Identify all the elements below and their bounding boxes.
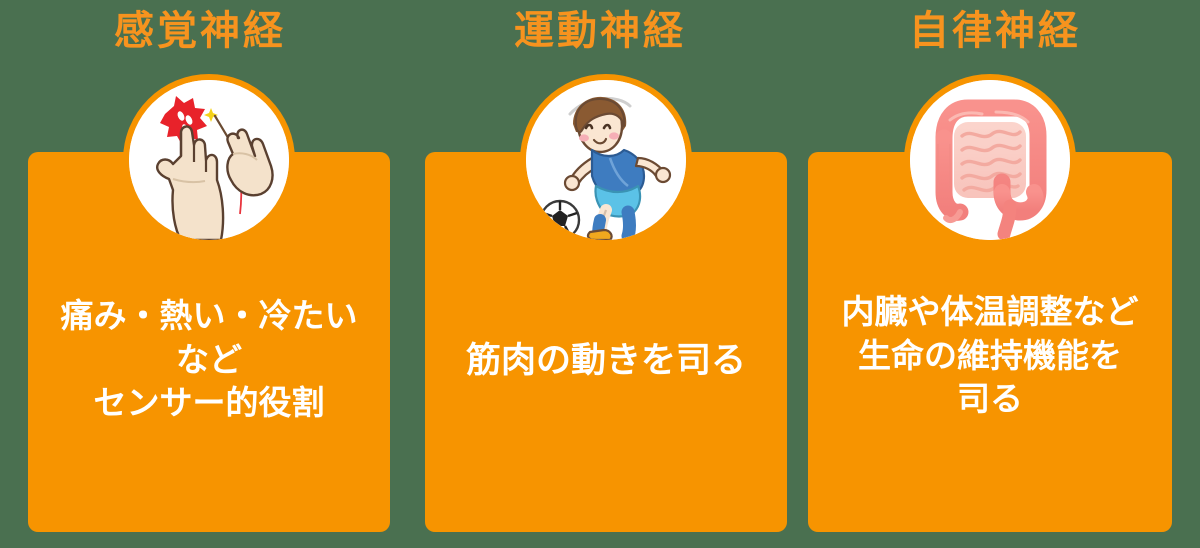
card-text-autonomic: 内臓や体温調整など 生命の維持機能を 司る <box>808 290 1172 421</box>
card-text-line: センサー的役割 <box>28 381 390 425</box>
boy-kicking-soccer-ball-icon <box>526 80 686 240</box>
panel-motor-nerve: 運動神経 筋肉の動きを司る <box>400 0 800 548</box>
card-text-line: 内臓や体温調整など <box>808 290 1172 334</box>
card-text-sensory: 痛み・熱い・冷たい など センサー的役割 <box>28 294 390 425</box>
hand-needle-pain-icon <box>129 80 289 240</box>
card-text-line: など <box>28 338 390 382</box>
card-text-line: 筋肉の動きを司る <box>425 338 787 384</box>
panel-title-autonomic: 自律神経 <box>790 8 1200 54</box>
card-text-motor: 筋肉の動きを司る <box>425 338 787 384</box>
card-text-line: 司る <box>808 377 1172 421</box>
intestine-organ-icon <box>910 80 1070 240</box>
nerve-types-infographic: 感覚神経 痛み・熱い・冷たい など センサー的役割 <box>0 0 1200 548</box>
panel-title-sensory: 感覚神経 <box>0 8 400 54</box>
card-text-line: 痛み・熱い・冷たい <box>28 294 390 338</box>
panel-sensory-nerve: 感覚神経 痛み・熱い・冷たい など センサー的役割 <box>0 0 400 548</box>
card-text-line: 生命の維持機能を <box>808 334 1172 378</box>
panel-autonomic-nerve: 自律神経 内臓や体温調整など 生命の維持機能を 司る <box>790 0 1200 548</box>
panel-title-motor: 運動神経 <box>400 8 800 54</box>
